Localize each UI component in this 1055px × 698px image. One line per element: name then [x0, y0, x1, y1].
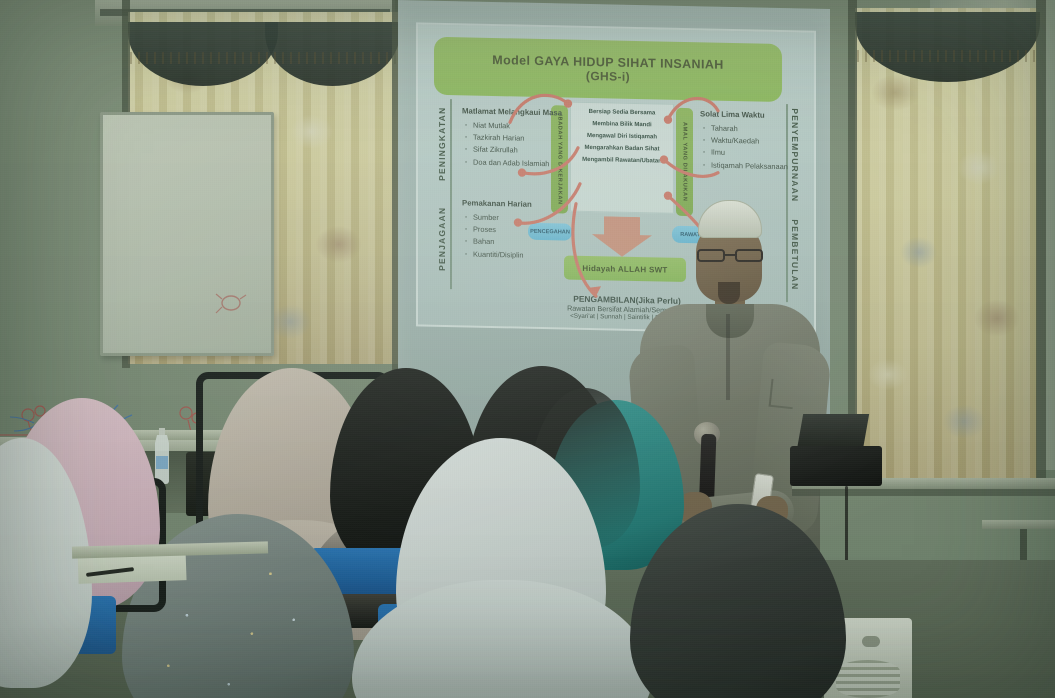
curtain-valance	[130, 52, 398, 64]
presenter-pocket	[769, 379, 796, 409]
slide-title-line2: (GHS-i)	[586, 69, 630, 84]
appliance-vent	[836, 660, 900, 698]
column-heading: Solat Lima Waktu	[700, 108, 808, 123]
laptop	[790, 446, 882, 486]
slide-divider-left	[450, 99, 452, 289]
slide-label-penjagaan: PENJAGAAN	[437, 193, 447, 285]
window-frame	[848, 0, 857, 480]
whiteboard	[100, 112, 274, 356]
window-frame	[1036, 0, 1046, 478]
slide-label-peningkatan: PENINGKATAN	[437, 101, 447, 187]
whiteboard-doodle-icon	[215, 290, 247, 316]
list-item: Doa dan Adab Islamiah	[473, 156, 582, 171]
center-line: Bersiap Sedia Bersama	[575, 106, 669, 120]
list-item: Istiqamah Pelaksanaan	[711, 159, 808, 173]
column-heading: Pemakanan Harian	[462, 197, 582, 212]
presenter-goatee	[718, 282, 740, 304]
appliance-knob	[862, 636, 880, 647]
laptop-lid	[797, 414, 869, 450]
equipment-table-edge	[792, 489, 1055, 496]
glasses-icon	[696, 248, 764, 262]
classroom-photo: Model GAYA HIDUP SIHAT INSANIAH (GHS-i) …	[0, 0, 1055, 698]
slide-title: Model GAYA HIDUP SIHAT INSANIAH (GHS-i)	[434, 37, 782, 102]
slide-column-left-top: Matlamat Melangkaui Masa Niat Mutlak Taz…	[462, 105, 582, 170]
column-heading: Matlamat Melangkaui Masa	[462, 105, 582, 120]
slide-pill-pencegahan: PENCEGAHAN	[528, 223, 572, 241]
side-table	[982, 520, 1055, 529]
curtain-valance	[857, 50, 1037, 62]
kopiah-cap	[698, 200, 762, 238]
slide-column-right: Solat Lima Waktu Taharah Waktu/Kaedah Il…	[700, 108, 808, 173]
center-line: Mengambil Rawatan/Ubatan	[575, 154, 669, 168]
presenter-placket	[726, 314, 730, 400]
